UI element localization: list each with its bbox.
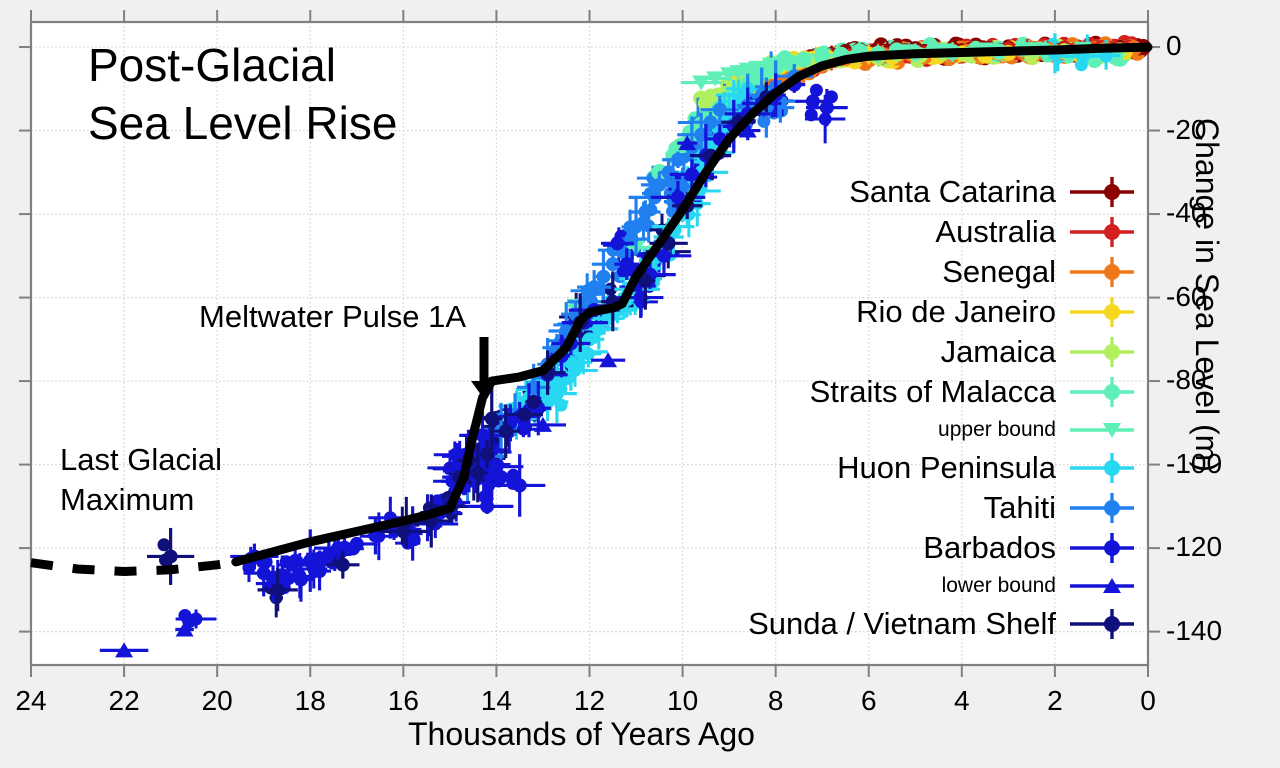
data-point (157, 538, 170, 551)
data-point (336, 558, 350, 572)
legend-item-label: Tahiti (984, 491, 1056, 525)
data-point (610, 236, 624, 250)
legend-item-australia[interactable]: Australia (760, 212, 1140, 252)
y-tick-label: -60 (1166, 281, 1206, 313)
legend-item-santa-catarina[interactable]: Santa Catarina (760, 172, 1140, 212)
title-line-2: Sea Level Rise (88, 97, 397, 149)
legend-item-tahiti[interactable]: Tahiti (760, 488, 1140, 528)
data-point (313, 564, 327, 578)
data-point (513, 478, 527, 492)
data-point (517, 407, 531, 421)
chart-legend: Santa CatarinaAustraliaSenegalRio de Jan… (760, 172, 1140, 644)
y-tick-label: -120 (1166, 531, 1222, 563)
data-point (550, 387, 564, 401)
data-point (294, 572, 308, 586)
legend-item-huon-peninsula[interactable]: Huon Peninsula (760, 448, 1140, 488)
legend-item-sunda-vietnam-shelf[interactable]: Sunda / Vietnam Shelf (760, 604, 1140, 644)
data-point (796, 52, 812, 68)
legend-item-label: Jamaica (941, 335, 1056, 369)
x-axis-label: Thousands of Years Ago (408, 716, 755, 753)
data-point (757, 115, 770, 128)
data-point (638, 205, 652, 219)
legend-marker-circle-icon (1062, 175, 1140, 209)
page-title: Post-GlacialSea Level Rise (88, 36, 397, 152)
data-point (587, 280, 601, 294)
data-point (596, 270, 610, 284)
data-point (713, 103, 727, 117)
data-point (257, 566, 271, 580)
legend-item-rio-de-janeiro[interactable]: Rio de Janeiro (760, 292, 1140, 332)
x-tick-label: 0 (1126, 685, 1170, 717)
legend-marker-circle-icon (1062, 607, 1140, 641)
data-point (164, 549, 178, 563)
legend-item-label: Rio de Janeiro (856, 295, 1056, 329)
legend-item-label: Senegal (942, 255, 1056, 289)
chart-figure: Post-GlacialSea Level Rise Last GlacialM… (0, 0, 1280, 768)
x-tick-label: 2 (1033, 685, 1077, 717)
legend-marker-circle-icon (1062, 375, 1140, 409)
legend-item-label: Barbados (923, 531, 1056, 565)
data-point (629, 220, 643, 234)
legend-marker-triangle-down-icon (1062, 413, 1140, 447)
title-line-1: Post-Glacial (88, 39, 336, 91)
x-tick-label: 24 (9, 685, 53, 717)
data-point (820, 101, 834, 115)
data-point (271, 583, 285, 597)
x-tick-label: 18 (288, 685, 332, 717)
data-point (819, 113, 832, 126)
legend-item-lower-bound[interactable]: lower bound (760, 568, 1140, 604)
legend-item-upper-bound[interactable]: upper bound (760, 412, 1140, 448)
legend-marker-circle-icon (1062, 531, 1140, 565)
lgm-line-2: Maximum (60, 482, 194, 517)
legend-item-label: Straits of Malacca (810, 375, 1056, 409)
legend-item-label: Santa Catarina (849, 175, 1056, 209)
legend-marker-circle-icon (1062, 491, 1140, 525)
legend-item-label: Huon Peninsula (837, 451, 1056, 485)
data-point (620, 257, 634, 271)
legend-item-label: Sunda / Vietnam Shelf (748, 607, 1056, 641)
legend-marker-circle-icon (1062, 295, 1140, 329)
data-point (499, 424, 513, 438)
data-point (485, 412, 499, 426)
y-tick-label: -40 (1166, 197, 1206, 229)
annotation-meltwater-pulse-1a: Meltwater Pulse 1A (199, 299, 466, 335)
lgm-line-1: Last Glacial (60, 442, 222, 477)
data-point (652, 178, 666, 192)
legend-marker-circle-icon (1062, 335, 1140, 369)
y-tick-label: -80 (1166, 364, 1206, 396)
y-tick-label: -20 (1166, 114, 1206, 146)
x-tick-label: 16 (381, 685, 425, 717)
y-tick-label: -140 (1166, 615, 1222, 647)
legend-item-label: Australia (935, 215, 1056, 249)
y-tick-label: 0 (1166, 30, 1182, 62)
legend-marker-triangle-up-icon (1062, 569, 1140, 603)
legend-item-jamaica[interactable]: Jamaica (760, 332, 1140, 372)
legend-item-senegal[interactable]: Senegal (760, 252, 1140, 292)
legend-marker-circle-icon (1062, 255, 1140, 289)
legend-marker-circle-icon (1062, 215, 1140, 249)
legend-marker-circle-icon (1062, 451, 1140, 485)
x-tick-label: 10 (661, 685, 705, 717)
data-point (527, 395, 541, 409)
annotation-last-glacial-maximum: Last GlacialMaximum (60, 440, 222, 520)
data-point (471, 466, 485, 480)
data-point (494, 470, 508, 484)
data-point (671, 153, 685, 167)
legend-item-straits-of-malacca[interactable]: Straits of Malacca (760, 372, 1140, 412)
x-tick-label: 22 (102, 685, 146, 717)
data-point (480, 499, 494, 513)
x-tick-label: 14 (474, 685, 518, 717)
data-point (350, 537, 364, 551)
x-tick-label: 12 (568, 685, 612, 717)
legend-item-label: lower bound (942, 569, 1056, 603)
x-tick-label: 4 (940, 685, 984, 717)
x-tick-label: 8 (754, 685, 798, 717)
y-tick-label: -100 (1166, 448, 1222, 480)
x-tick-label: 6 (847, 685, 891, 717)
x-tick-label: 20 (195, 685, 239, 717)
legend-item-barbados[interactable]: Barbados (760, 528, 1140, 568)
legend-item-label: upper bound (938, 413, 1056, 447)
